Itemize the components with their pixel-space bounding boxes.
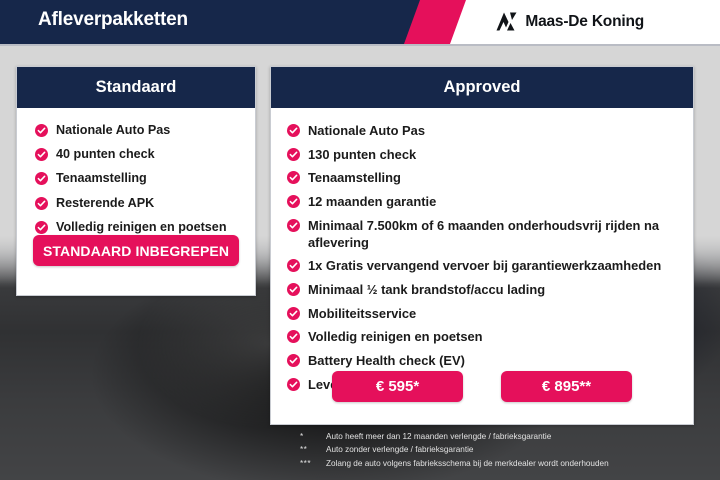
feature-label: Minimaal ½ tank brandstof/accu lading [308,281,545,298]
footnote-marker: * [300,430,326,443]
check-circle-icon [287,124,300,137]
price-button-895[interactable]: € 895** [501,371,632,402]
check-circle-icon [287,171,300,184]
feature-list-standaard: Nationale Auto Pas 40 punten check Tenaa… [17,122,255,236]
promo-page: Afleverpakketten Maas-De Koning Standaar… [0,0,720,480]
check-circle-icon [35,124,48,137]
feature-list-approved: Nationale Auto Pas 130 punten check Tena… [271,122,693,393]
footnote-row: ** Auto zonder verlengde / fabrieksgaran… [300,443,609,456]
list-item: Tenaamstelling [35,170,255,187]
feature-label: Minimaal 7.500km of 6 maanden onderhouds… [308,217,693,251]
list-item: Tenaamstelling [287,169,693,186]
list-item: Resterende APK [35,195,255,212]
price-button-row: € 595* € 895** [271,371,693,402]
list-item: Minimaal ½ tank brandstof/accu lading [287,281,693,298]
list-item: Nationale Auto Pas [35,122,255,139]
check-circle-icon [287,259,300,272]
footnote-text: Auto heeft meer dan 12 maanden verlengde… [326,430,551,443]
card-body-standaard: Nationale Auto Pas 40 punten check Tenaa… [17,108,255,236]
feature-label: 130 punten check [308,146,416,163]
header-divider [0,44,720,46]
card-title-approved: Approved [271,67,693,108]
feature-label: Nationale Auto Pas [56,122,170,139]
brand-logo: Maas-De Koning [495,11,644,32]
check-circle-icon [287,219,300,232]
list-item: Battery Health check (EV) [287,352,693,369]
footnote-row: *** Zolang de auto volgens fabrieksschem… [300,457,609,470]
check-circle-icon [35,197,48,210]
check-circle-icon [35,148,48,161]
list-item: Volledig reinigen en poetsen [287,328,693,345]
footnote-marker: *** [300,457,326,470]
package-card-standaard: Standaard Nationale Auto Pas 40 punten c… [16,66,256,296]
list-item: Minimaal 7.500km of 6 maanden onderhouds… [287,217,693,251]
list-item: Volledig reinigen en poetsen [35,219,255,236]
feature-label: 40 punten check [56,146,155,163]
check-circle-icon [287,330,300,343]
feature-label: 12 maanden garantie [308,193,436,210]
list-item: 40 punten check [35,146,255,163]
card-title-standaard: Standaard [17,67,255,108]
check-circle-icon [35,172,48,185]
feature-label: Nationale Auto Pas [308,122,425,139]
feature-label: Resterende APK [56,195,154,212]
check-circle-icon [287,307,300,320]
footnote-marker: ** [300,443,326,456]
feature-label: Mobiliteitsservice [308,305,416,322]
feature-label: 1x Gratis vervangend vervoer bij garanti… [308,257,661,274]
brand-name: Maas-De Koning [525,13,644,31]
maas-de-koning-m-logo-icon [495,11,518,32]
list-item: Mobiliteitsservice [287,305,693,322]
price-button-595[interactable]: € 595* [332,371,463,402]
footnotes: * Auto heeft meer dan 12 maanden verleng… [300,430,609,470]
page-header: Afleverpakketten Maas-De Koning [0,0,720,44]
list-item: 12 maanden garantie [287,193,693,210]
feature-label: Volledig reinigen en poetsen [56,219,227,236]
feature-label: Battery Health check (EV) [308,352,465,369]
check-circle-icon [287,283,300,296]
check-circle-icon [35,221,48,234]
package-card-approved: Approved Nationale Auto Pas 130 punten c… [270,66,694,425]
check-circle-icon [287,148,300,161]
standaard-included-button[interactable]: STANDAARD INBEGREPEN [33,235,239,266]
footnote-row: * Auto heeft meer dan 12 maanden verleng… [300,430,609,443]
page-title: Afleverpakketten [38,9,188,31]
feature-label: Tenaamstelling [308,169,401,186]
feature-label: Tenaamstelling [56,170,147,187]
check-circle-icon [287,354,300,367]
footnote-text: Auto zonder verlengde / fabrieksgarantie [326,443,473,456]
feature-label: Volledig reinigen en poetsen [308,328,483,345]
card-body-approved: Nationale Auto Pas 130 punten check Tena… [271,108,693,393]
list-item: 130 punten check [287,146,693,163]
check-circle-icon [287,195,300,208]
list-item: Nationale Auto Pas [287,122,693,139]
list-item: 1x Gratis vervangend vervoer bij garanti… [287,257,693,274]
footnote-text: Zolang de auto volgens fabrieksschema bi… [326,457,609,470]
